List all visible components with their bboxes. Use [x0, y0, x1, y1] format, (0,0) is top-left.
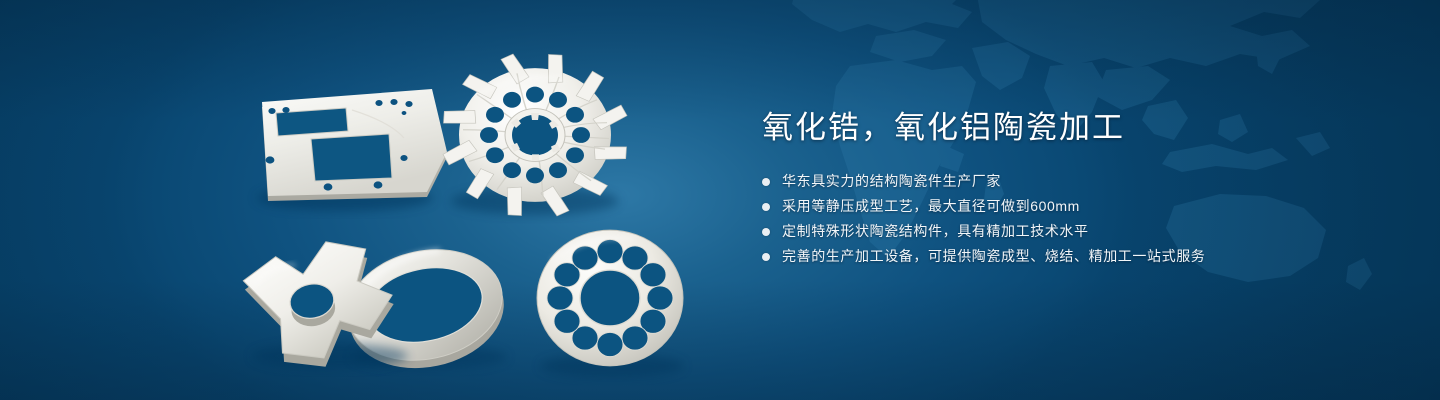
list-item: 完善的生产加工设备，可提供陶瓷成型、烧结、精加工一站式服务: [762, 245, 1382, 268]
hero-banner: 氧化锆，氧化铝陶瓷加工 华东具实力的结构陶瓷件生产厂家 采用等静压成型工艺，最大…: [0, 0, 1440, 400]
feature-text: 华东具实力的结构陶瓷件生产厂家: [782, 170, 1001, 193]
list-item: 采用等静压成型工艺，最大直径可做到600mm: [762, 195, 1382, 218]
list-item: 华东具实力的结构陶瓷件生产厂家: [762, 170, 1382, 193]
bullet-dot-icon: [762, 253, 770, 261]
product-ceramic-hole-disc: [537, 230, 684, 378]
product-ceramic-plate: [257, 89, 447, 211]
product-ceramic-cross-part: [239, 232, 408, 378]
bullet-dot-icon: [762, 228, 770, 236]
feature-text: 完善的生产加工设备，可提供陶瓷成型、烧结、精加工一站式服务: [782, 245, 1205, 268]
page-title: 氧化锆，氧化铝陶瓷加工: [762, 108, 1382, 148]
feature-list: 华东具实力的结构陶瓷件生产厂家 采用等静压成型工艺，最大直径可做到600mm 定…: [762, 170, 1382, 268]
list-item: 定制特殊形状陶瓷结构件，具有精加工技术水平: [762, 220, 1382, 243]
product-ceramic-impeller: [438, 50, 631, 220]
banner-copy: 氧化锆，氧化铝陶瓷加工 华东具实力的结构陶瓷件生产厂家 采用等静压成型工艺，最大…: [762, 108, 1382, 270]
bullet-dot-icon: [762, 203, 770, 211]
product-photo-cluster: [0, 0, 760, 400]
feature-text: 定制特殊形状陶瓷结构件，具有精加工技术水平: [782, 220, 1089, 243]
bullet-dot-icon: [762, 178, 770, 186]
feature-text: 采用等静压成型工艺，最大直径可做到600mm: [782, 195, 1080, 218]
